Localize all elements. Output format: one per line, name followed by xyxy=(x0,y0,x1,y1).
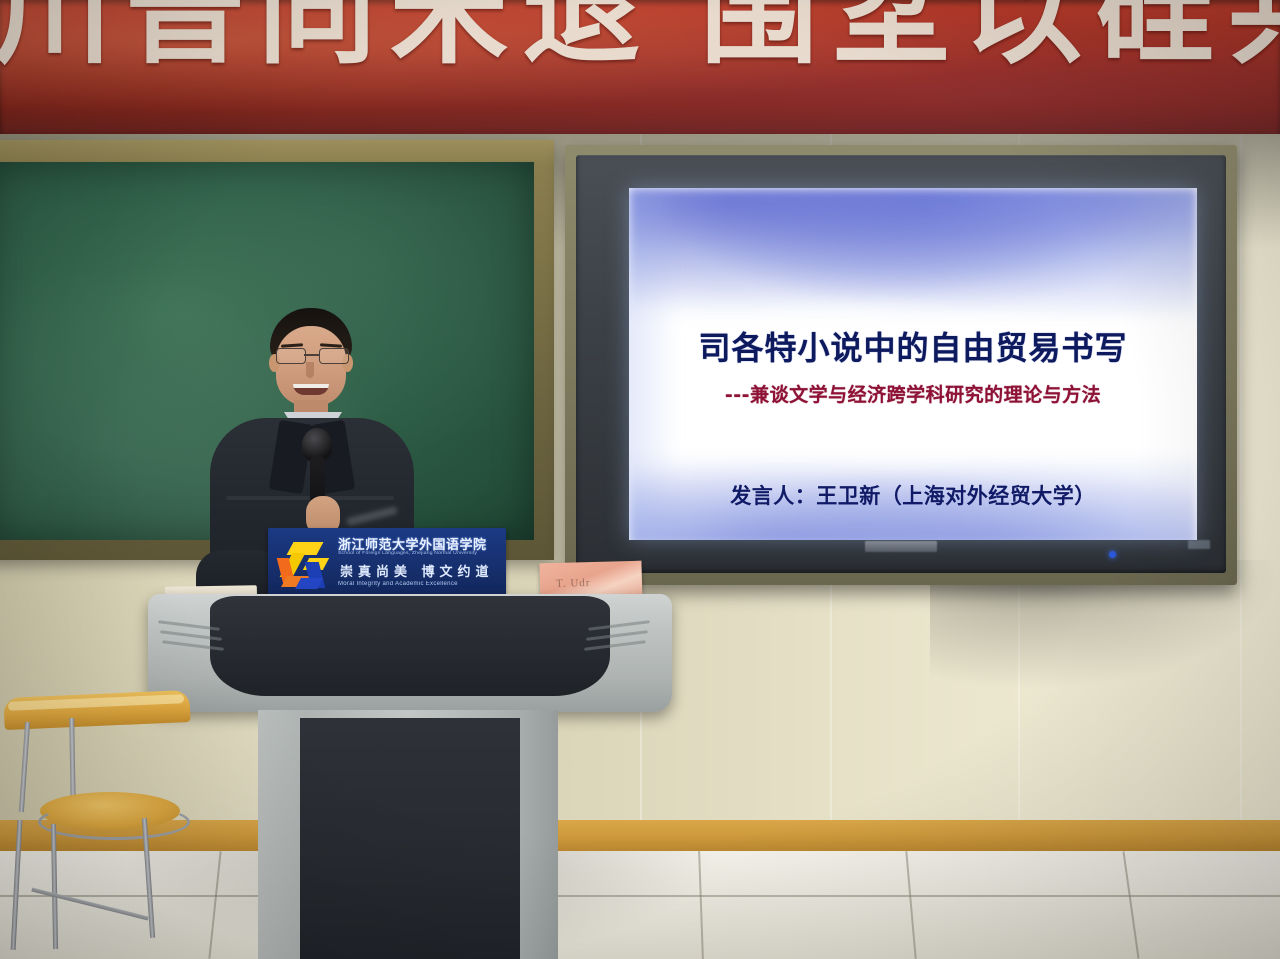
presentation-slide: 司各特小说中的自由贸易书写 ---兼谈文学与经济跨学科研究的理论与方法 发言人：… xyxy=(629,188,1197,540)
podium-column-face xyxy=(300,718,520,959)
wooden-stool xyxy=(0,688,230,959)
display-brand-label xyxy=(865,541,937,552)
floor-tile-seam xyxy=(1122,851,1139,958)
stool-leg xyxy=(51,824,58,949)
power-indicator-led xyxy=(1109,551,1116,558)
slide-title: 司各特小说中的自由贸易书写 xyxy=(629,323,1197,369)
sign-english-motto: Moral Integrity and Academic Excellence xyxy=(338,581,500,587)
speaker-mouth xyxy=(293,384,329,395)
podium-institution-sign: 浙江师范大学外国语学院 School of Foreign Languages,… xyxy=(268,528,506,601)
eyeglass-bridge xyxy=(304,354,319,356)
sign-english-name: School of Foreign Languages, Zhejiang No… xyxy=(338,550,500,555)
podium-front-panel xyxy=(210,596,610,696)
slide-presenter-line: 发言人：王卫新（上海对外经贸大学） xyxy=(629,480,1197,510)
lecture-photo-scene: 川普同米退围坌以硅共 司各特小说中的自由贸易书写 ---兼谈文学与经济跨学科研究… xyxy=(0,0,1280,959)
banner-text-left: 川普同米退 xyxy=(0,0,654,80)
stool-back-post xyxy=(19,722,30,812)
university-emblem-icon xyxy=(278,538,330,590)
eyeglasses-icon xyxy=(275,348,348,362)
display-corner-logo xyxy=(1188,540,1210,549)
slide-subtitle: ---兼谈文学与经济跨学科研究的理论与方法 xyxy=(629,380,1197,407)
stool-cross-rung xyxy=(31,888,148,921)
eyeglass-lens-left xyxy=(276,348,306,364)
slide-content: 司各特小说中的自由贸易书写 ---兼谈文学与经济跨学科研究的理论与方法 发言人：… xyxy=(629,188,1197,540)
stool-seat-rim xyxy=(38,804,190,840)
red-banner: 川普同米退围坌以硅共 xyxy=(0,0,1280,134)
display-bezel: 司各特小说中的自由贸易书写 ---兼谈文学与经济跨学科研究的理论与方法 发言人：… xyxy=(576,155,1226,573)
sign-chinese-motto: 崇真尚美 博文约道 xyxy=(340,561,498,580)
speaker-nose xyxy=(306,362,314,378)
display-wall-mount: 司各特小说中的自由贸易书写 ---兼谈文学与经济跨学科研究的理论与方法 发言人：… xyxy=(565,145,1237,585)
floor-tile-seam xyxy=(905,851,916,959)
book-cover-text: T. Udr xyxy=(556,577,591,590)
eyeglass-lens-right xyxy=(319,348,349,364)
stool-leg xyxy=(11,820,23,950)
banner-text-right: 围坌以硅共 xyxy=(700,0,1280,80)
banner-text: 川普同米退围坌以硅共 xyxy=(0,0,1280,70)
